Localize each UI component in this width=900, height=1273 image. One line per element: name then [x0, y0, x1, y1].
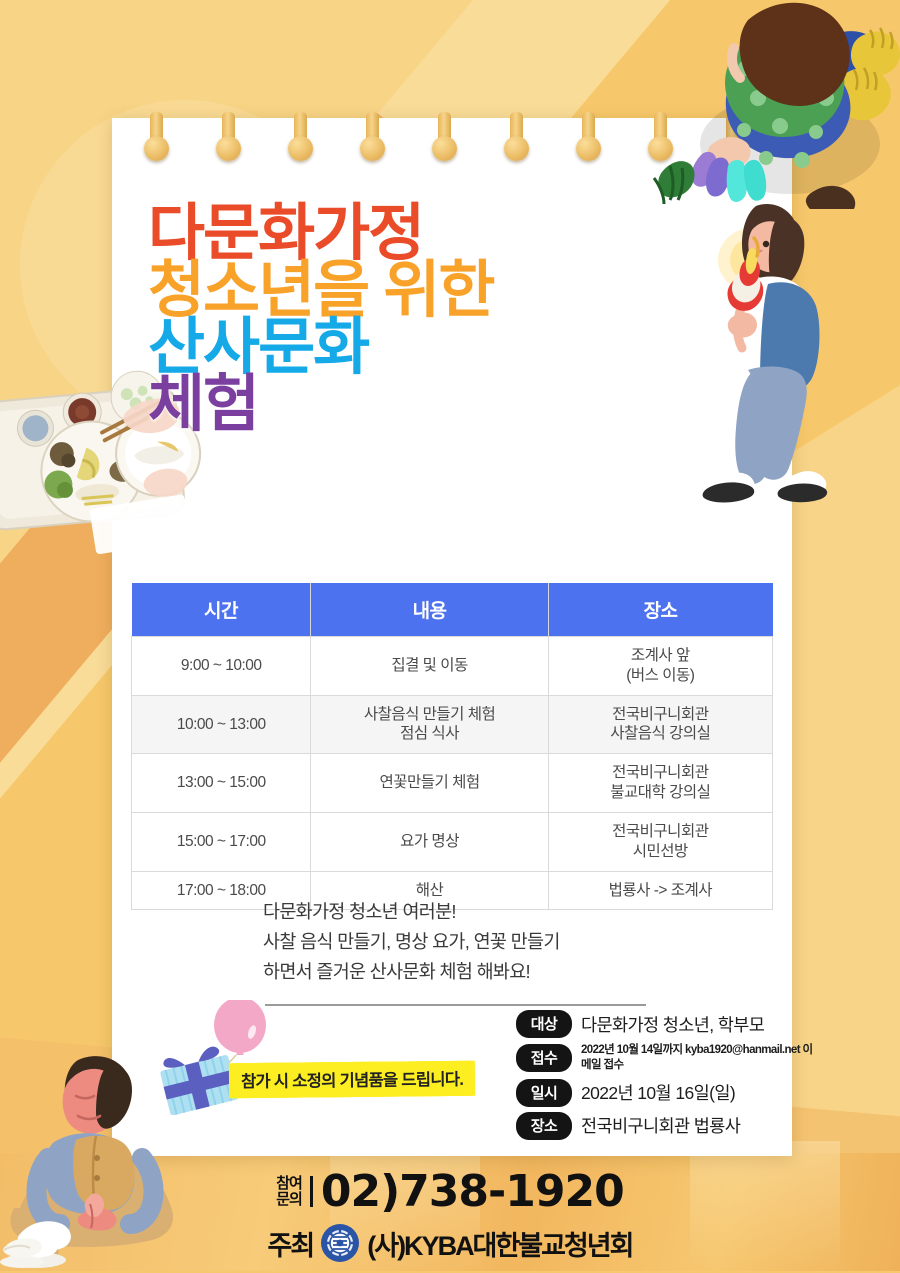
spiral-ring-icon: [294, 112, 307, 142]
column-header-content: 내용: [311, 583, 548, 637]
contact-label-line-2: 문의: [276, 1192, 302, 1207]
cell-place: 조계사 앞(버스 이동): [548, 637, 772, 696]
host-row: 주최 (사)KYBA대한불교청년회: [0, 1223, 900, 1263]
info-row-target: 대상 다문화가정 청소년, 학부모: [516, 1010, 816, 1038]
gift-note-highlight: 참가 시 소정의 기념품을 드립니다.: [232, 1061, 473, 1099]
contact-label-line-1: 참여: [276, 1176, 302, 1191]
badge-date: 일시: [516, 1079, 572, 1107]
spiral-ring-icon: [366, 112, 379, 142]
host-label: 주최: [268, 1224, 314, 1263]
column-header-time: 시간: [132, 583, 311, 637]
spiral-ring-icon: [510, 112, 523, 142]
badge-registration: 접수: [516, 1044, 572, 1072]
event-info-list: 대상 다문화가정 청소년, 학부모 접수 2022년 10월 14일까지 kyb…: [516, 1010, 816, 1145]
info-row-registration: 접수 2022년 10월 14일까지 kyba1920@hanmail.net …: [516, 1043, 816, 1074]
table-row: 10:00 ~ 13:00 사찰음식 만들기 체험점심 식사 전국비구니회관사찰…: [132, 695, 773, 754]
cell-place: 법룡사 -> 조계사: [548, 871, 772, 910]
title-line-1: 다문화가정: [148, 205, 493, 262]
poster-title: 다문화가정 청소년을 위한 산사문화 체험: [148, 205, 493, 433]
column-header-place: 장소: [548, 583, 772, 637]
title-line-4: 체험: [148, 376, 493, 433]
cell-content: 연꽃만들기 체험: [311, 754, 548, 813]
spiral-ring-icon: [150, 112, 163, 142]
section-divider: [265, 1004, 646, 1006]
title-line-3: 산사문화: [148, 319, 493, 376]
cell-content: 요가 명상: [311, 812, 548, 871]
description-line-1: 다문화가정 청소년 여러분!: [263, 897, 560, 927]
host-organization-name: (사)KYBA대한불교청년회: [367, 1224, 632, 1263]
contact-label: 참여 문의: [276, 1176, 313, 1207]
schedule-table-body: 9:00 ~ 10:00 집결 및 이동 조계사 앞(버스 이동) 10:00 …: [132, 637, 773, 910]
contact-row: 참여 문의 02)738-1920: [0, 1166, 900, 1217]
spiral-ring-icon: [438, 112, 451, 142]
description-line-2: 사찰 음식 만들기, 명상 요가, 연꽃 만들기: [263, 927, 560, 957]
schedule-table: 시간 내용 장소 9:00 ~ 10:00 집결 및 이동 조계사 앞(버스 이…: [131, 583, 773, 910]
description-line-3: 하면서 즐거운 산사문화 체험 해봐요!: [263, 957, 560, 987]
table-header-row: 시간 내용 장소: [132, 583, 773, 637]
table-row: 9:00 ~ 10:00 집결 및 이동 조계사 앞(버스 이동): [132, 637, 773, 696]
cell-time: 13:00 ~ 15:00: [132, 754, 311, 813]
person-with-lotus-lantern-illustration: [690, 188, 870, 510]
cell-time: 9:00 ~ 10:00: [132, 637, 311, 696]
table-row: 13:00 ~ 15:00 연꽃만들기 체험 전국비구니회관불교대학 강의실: [132, 754, 773, 813]
title-line-2: 청소년을 위한: [148, 262, 493, 319]
spiral-ring-icon: [582, 112, 595, 142]
cell-content: 사찰음식 만들기 체험점심 식사: [311, 695, 548, 754]
poster-footer: 참여 문의 02)738-1920 주최 (사)KYBA대한불교청년회: [0, 1166, 900, 1263]
info-value-registration: 2022년 10월 14일까지 kyba1920@hanmail.net 이메일…: [581, 1043, 816, 1074]
spiral-ring-icon: [222, 112, 235, 142]
cell-time: 10:00 ~ 13:00: [132, 695, 311, 754]
cell-place: 전국비구니회관사찰음식 강의실: [548, 695, 772, 754]
table-row: 15:00 ~ 17:00 요가 명상 전국비구니회관시민선방: [132, 812, 773, 871]
cell-place: 전국비구니회관시민선방: [548, 812, 772, 871]
cell-place: 전국비구니회관불교대학 강의실: [548, 754, 772, 813]
badge-target: 대상: [516, 1010, 572, 1038]
schedule-table-wrapper: 시간 내용 장소 9:00 ~ 10:00 집결 및 이동 조계사 앞(버스 이…: [131, 583, 773, 910]
contact-phone-number[interactable]: 02)738-1920: [321, 1166, 624, 1217]
cell-content: 집결 및 이동: [311, 637, 548, 696]
child-leaning-illustration: [640, 0, 900, 209]
info-row-venue: 장소 전국비구니회관 법룡사: [516, 1112, 816, 1140]
info-value-target: 다문화가정 청소년, 학부모: [581, 1012, 764, 1037]
info-value-date: 2022년 10월 16일(일): [581, 1080, 735, 1105]
info-row-date: 일시 2022년 10월 16일(일): [516, 1079, 816, 1107]
description-block: 다문화가정 청소년 여러분! 사찰 음식 만들기, 명상 요가, 연꽃 만들기 …: [263, 897, 560, 987]
info-value-venue: 전국비구니회관 법룡사: [581, 1113, 740, 1138]
dharma-wheel-logo-icon: [320, 1223, 360, 1263]
badge-venue: 장소: [516, 1112, 572, 1140]
cell-time: 15:00 ~ 17:00: [132, 812, 311, 871]
